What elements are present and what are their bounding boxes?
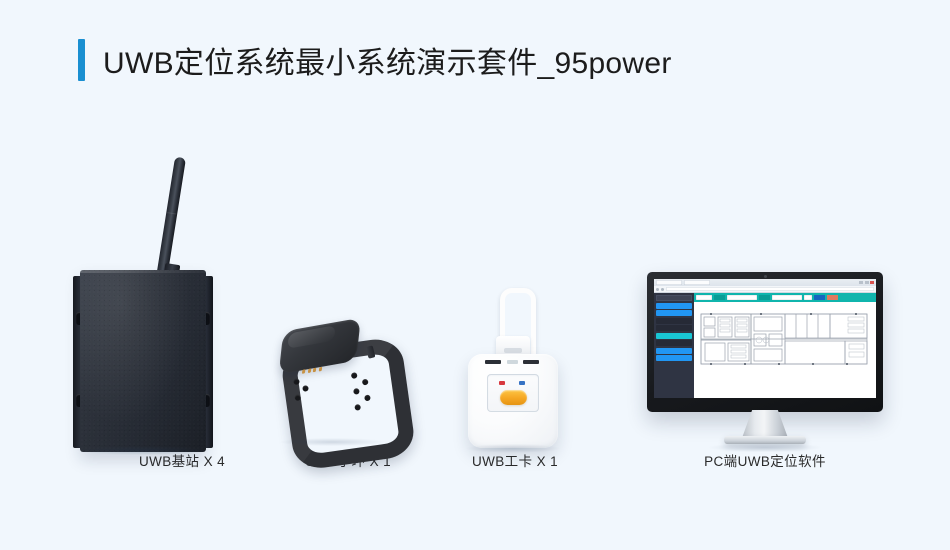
forward-icon[interactable] xyxy=(661,288,664,291)
browser-tab[interactable] xyxy=(684,280,710,285)
sidebar-item[interactable] xyxy=(656,318,692,324)
url-input[interactable] xyxy=(666,287,874,291)
window-controls[interactable] xyxy=(859,281,874,284)
sidebar-header xyxy=(656,295,692,301)
toolbar-button-secondary[interactable] xyxy=(827,295,838,300)
drop-shadow xyxy=(280,438,384,446)
product-showcase-row: UWB基站 X 4 xyxy=(0,140,950,500)
toolbar-button-primary[interactable] xyxy=(814,295,825,300)
app-body xyxy=(654,293,876,398)
monitor-screen xyxy=(654,279,876,398)
status-led-blue xyxy=(519,381,525,385)
browser-addressbar xyxy=(654,286,876,293)
sos-button[interactable] xyxy=(500,390,527,405)
page-header: UWB定位系统最小系统演示套件_95power xyxy=(78,38,672,82)
drop-shadow xyxy=(466,444,560,453)
base-station-enclosure xyxy=(80,270,206,452)
browser-tab[interactable] xyxy=(656,280,682,285)
product-uwb-wristband[interactable]: UWB手环 X 1 xyxy=(258,140,438,470)
work-card-enclosure xyxy=(468,354,558,448)
floor-plan-icon xyxy=(700,308,868,386)
toolbar-input[interactable] xyxy=(772,295,802,300)
browser-titlebar xyxy=(654,279,876,286)
floor-plan-canvas[interactable] xyxy=(694,302,876,398)
contact-pin xyxy=(302,369,306,374)
antenna-icon xyxy=(156,157,186,279)
vent-slot-center xyxy=(507,360,518,364)
wristband-assembly xyxy=(273,322,387,445)
vent-slot xyxy=(485,360,501,364)
monitor-bezel xyxy=(647,272,883,412)
drop-shadow xyxy=(78,446,210,455)
contact-pin xyxy=(313,368,317,373)
minimize-icon[interactable] xyxy=(859,281,863,284)
product-pc-software[interactable]: PC端UWB定位软件 xyxy=(625,140,905,470)
sidebar-item[interactable] xyxy=(656,355,692,361)
sidebar-item[interactable] xyxy=(656,303,692,309)
app-toolbar xyxy=(694,293,876,302)
vent-slot xyxy=(523,360,539,364)
contact-pin xyxy=(307,369,311,374)
product-caption-workcard: UWB工卡 X 1 xyxy=(430,450,600,470)
indicator-panel xyxy=(487,374,539,412)
accent-bar xyxy=(78,39,85,81)
back-icon[interactable] xyxy=(656,288,659,291)
app-main xyxy=(694,293,876,398)
product-caption-monitor: PC端UWB定位软件 xyxy=(625,450,905,470)
close-icon[interactable] xyxy=(870,281,874,284)
sidebar-item[interactable] xyxy=(656,340,692,346)
toolbar-input[interactable] xyxy=(727,295,757,300)
clip-notch xyxy=(504,348,522,353)
toolbar-input[interactable] xyxy=(696,295,712,300)
product-image-monitor xyxy=(625,140,905,450)
contact-pin xyxy=(318,367,322,372)
product-image-workcard xyxy=(430,140,600,450)
sidebar-item[interactable] xyxy=(656,348,692,354)
app-sidebar xyxy=(654,293,694,398)
toolbar-input[interactable] xyxy=(804,295,812,300)
sidebar-item-active[interactable] xyxy=(656,333,692,339)
page-title: UWB定位系统最小系统演示套件_95power xyxy=(103,38,672,82)
maximize-icon[interactable] xyxy=(865,281,869,284)
product-uwb-work-card[interactable]: UWB工卡 X 1 xyxy=(430,140,600,470)
status-led-red xyxy=(499,381,505,385)
sidebar-item[interactable] xyxy=(656,325,692,331)
product-image-wristband xyxy=(258,140,438,450)
toolbar-button[interactable] xyxy=(759,295,770,300)
monitor-stand-neck xyxy=(742,410,788,438)
toolbar-button[interactable] xyxy=(714,295,725,300)
face-gloss xyxy=(288,326,336,349)
webcam-icon xyxy=(764,275,767,278)
sidebar-item[interactable] xyxy=(656,310,692,316)
drop-shadow xyxy=(709,443,821,452)
